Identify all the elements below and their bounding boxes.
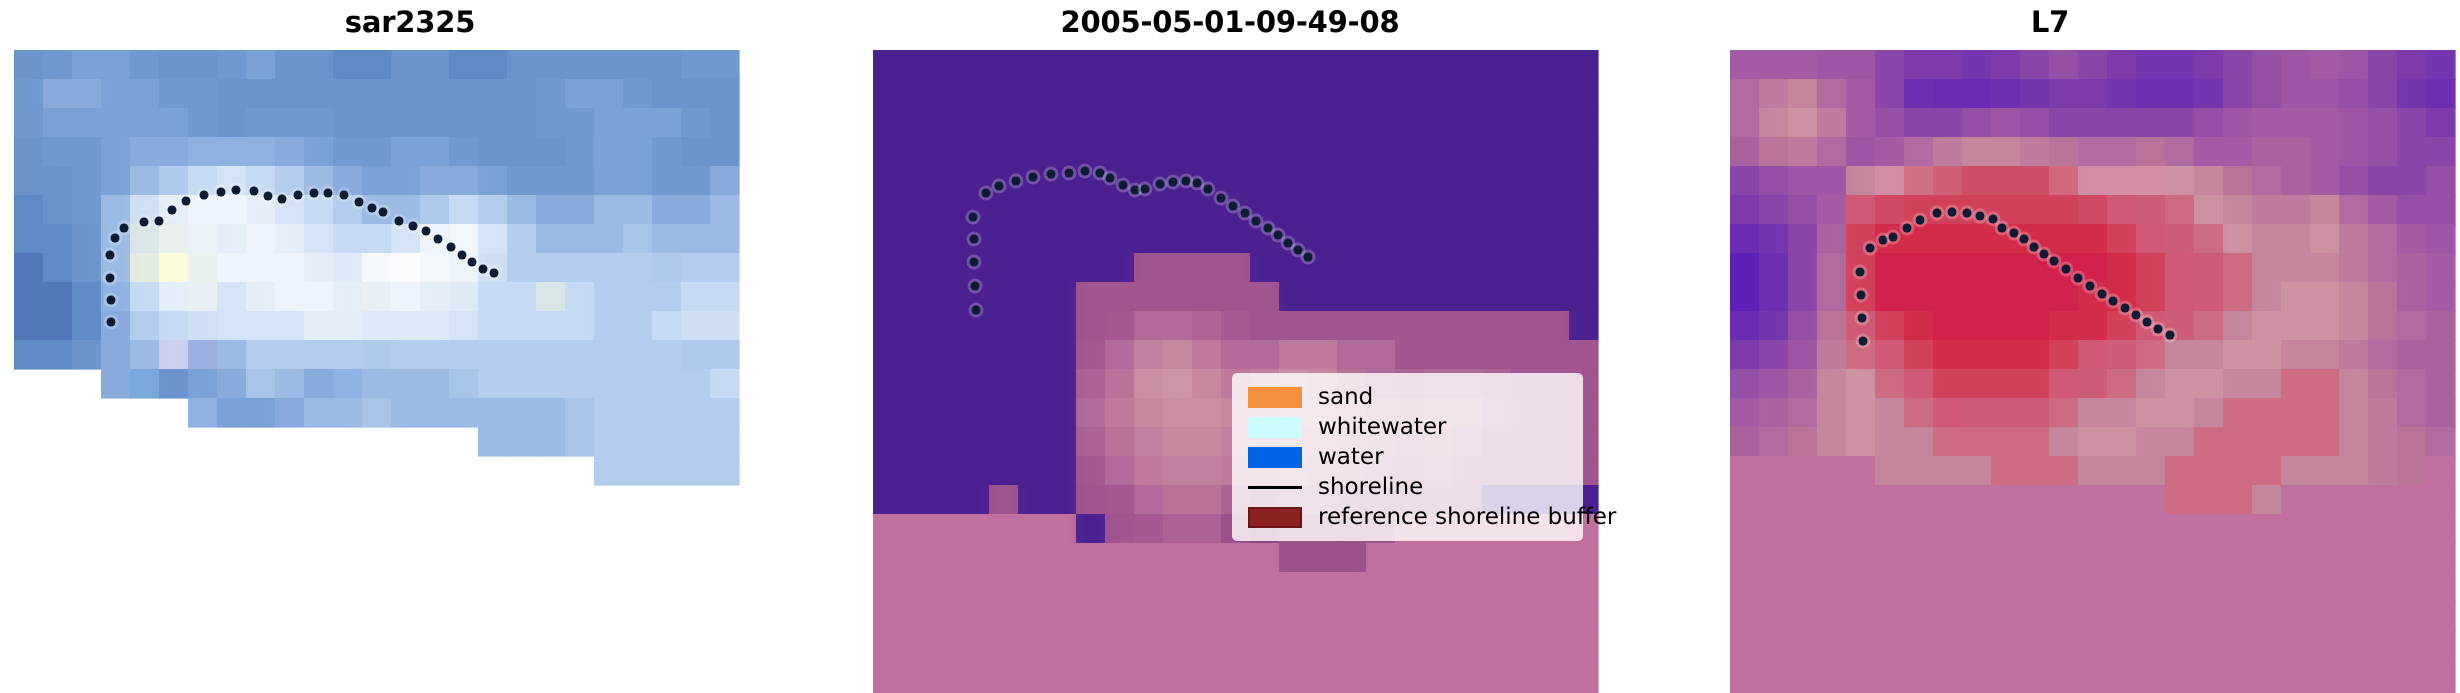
panel-l7: L7 [1640, 0, 2460, 693]
panel-2005-05-01-09-49-08: 2005-05-01-09-49-08 [820, 0, 1640, 693]
figure-root: sar2325 2005-05-01-09-49-08 L7 sand whit… [0, 0, 2460, 693]
panel-sar2325: sar2325 [0, 0, 820, 693]
legend-item-reference-shoreline-buffer: reference shoreline buffer [1244, 502, 1572, 532]
legend-swatch-whitewater [1244, 412, 1306, 442]
legend-item-sand: sand [1244, 382, 1572, 412]
map-legend: sand whitewater water shoreline referenc… [1232, 373, 1583, 541]
legend-item-whitewater: whitewater [1244, 412, 1572, 442]
legend-item-shoreline: shoreline [1244, 472, 1572, 502]
reference-buffer-color-swatch [1248, 507, 1302, 528]
legend-swatch-reference-buffer [1244, 502, 1306, 532]
legend-item-water: water [1244, 442, 1572, 472]
legend-label-water: water [1318, 442, 1384, 472]
legend-label-sand: sand [1318, 382, 1373, 412]
water-color-swatch [1248, 447, 1302, 468]
legend-label-shoreline: shoreline [1318, 472, 1423, 502]
legend-label-whitewater: whitewater [1318, 412, 1446, 442]
legend-swatch-water [1244, 442, 1306, 472]
shoreline-line-swatch [1248, 486, 1302, 489]
raster-map-sar2325[interactable] [0, 0, 820, 693]
legend-label-reference-buffer: reference shoreline buffer [1318, 502, 1616, 532]
raster-map-date[interactable] [820, 0, 1640, 693]
raster-map-l7[interactable] [1640, 0, 2460, 693]
legend-swatch-shoreline [1244, 472, 1306, 502]
legend-swatch-sand [1244, 382, 1306, 412]
sand-color-swatch [1248, 387, 1302, 408]
whitewater-color-swatch [1248, 417, 1302, 438]
